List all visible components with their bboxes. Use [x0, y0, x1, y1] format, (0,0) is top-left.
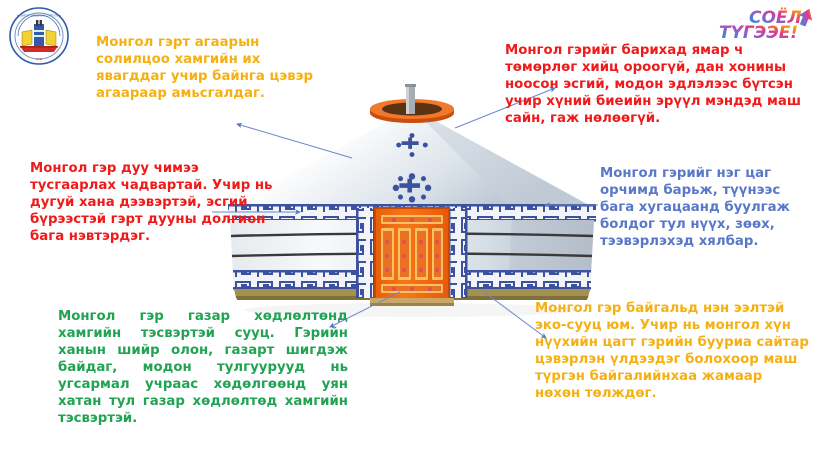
callout-eco-friendly: Монгол гэр байгальд нэн ээлтэй эко-сууц …: [535, 300, 810, 402]
callout-earthquake-resistance: Монгол гэр газар хөдлөлтөнд хамгийн тэсв…: [58, 308, 348, 427]
door-frame-left: [358, 208, 374, 298]
infographic-canvas: МОНГОЛ УЛСЫН ИХ СУРГУУЛЬ 1942 СОЁЛ ТҮГЭЭ…: [0, 0, 825, 464]
svg-text:1942: 1942: [36, 57, 43, 61]
svg-text:МОНГОЛ УЛСЫН ИХ СУРГУУЛЬ: МОНГОЛ УЛСЫН ИХ СУРГУУЛЬ: [17, 14, 61, 18]
soyol-tugeeye-logo: СОЁЛ ТҮГЭЭЕ!: [713, 4, 817, 44]
door-frame-right: [450, 208, 466, 298]
brand-line2: ТҮГЭЭЕ!: [719, 23, 798, 43]
callout-portability: Монгол гэрийг нэг цаг орчимд барьж, түүн…: [600, 165, 815, 250]
callout-air-circulation: Монгол гэрт агаарын солилцоо хамгийн их …: [96, 34, 328, 102]
organization-seal: МОНГОЛ УЛСЫН ИХ СУРГУУЛЬ 1942: [8, 6, 70, 66]
callout-natural-materials: Монгол гэрийг барихад ямар ч төмөрлөг хи…: [505, 42, 805, 127]
callout-sound-insulation: Монгол гэр дуу чимээ тусгаарлах чадварта…: [30, 160, 280, 245]
